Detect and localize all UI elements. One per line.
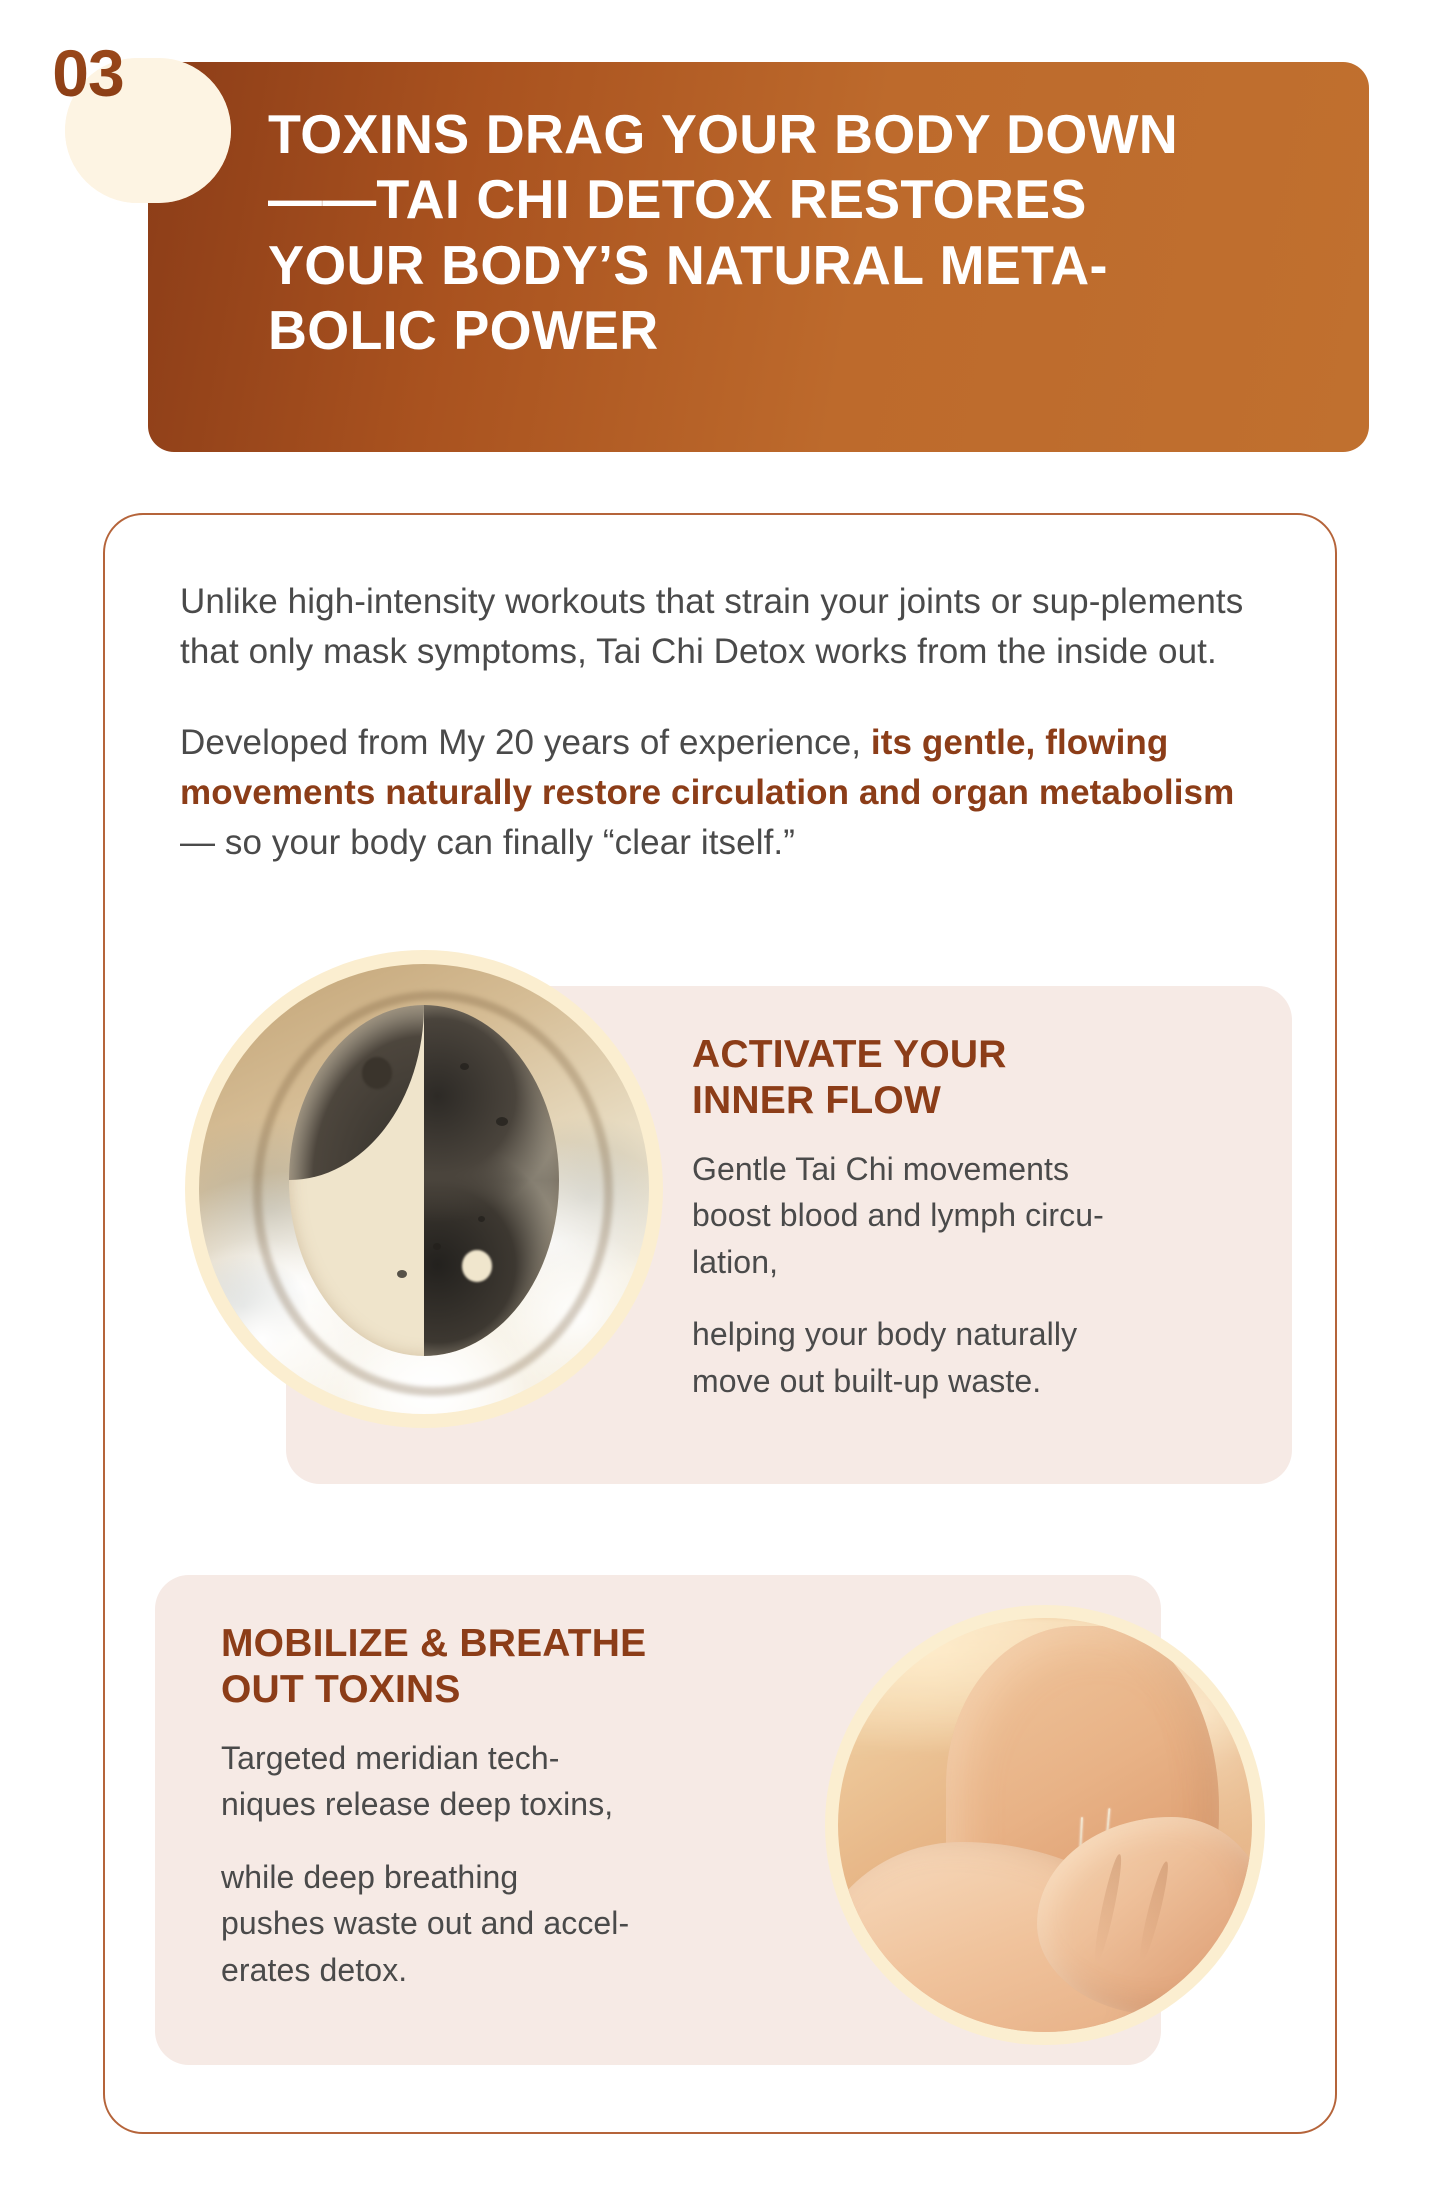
feature-card-mobilize-breathe-out-toxins: MOBILIZE & BREATHE OUT TOXINS Targeted m…: [155, 1575, 1161, 2065]
feature-2-text-block: MOBILIZE & BREATHE OUT TOXINS Targeted m…: [221, 1621, 691, 1993]
feature-1-text-block: ACTIVATE YOUR INNER FLOW Gentle Tai Chi …: [692, 1032, 1182, 1404]
feature-card-activate-inner-flow: ACTIVATE YOUR INNER FLOW Gentle Tai Chi …: [286, 986, 1292, 1484]
content-panel: Unlike high-intensity workouts that stra…: [103, 513, 1337, 2134]
yin-yang-disc: [289, 1005, 559, 1356]
intro-paragraph-1: Unlike high-intensity workouts that stra…: [180, 577, 1270, 676]
ink-speck: [397, 1270, 407, 1278]
feature-1-title: ACTIVATE YOUR INNER FLOW: [692, 1032, 1182, 1124]
intro-paragraph-1-text: Unlike high-intensity workouts that stra…: [180, 582, 1243, 671]
feature-2-title: MOBILIZE & BREATHE OUT TOXINS: [221, 1621, 691, 1713]
yin-yang-dark-dot: [362, 1057, 392, 1089]
intro-paragraph-2-tail: — so your body can finally “clear itself…: [180, 823, 795, 862]
yin-yang-light-dot: [462, 1250, 492, 1282]
feature-1-body-line-1: Gentle Tai Chi movements boost blood and…: [692, 1146, 1182, 1285]
ink-speck: [496, 1117, 508, 1126]
section-header-banner: TOXINS DRAG YOUR BODY DOWN ——TAI CHI DET…: [148, 62, 1369, 452]
feature-2-body-line-2: while deep breathing pushes waste out an…: [221, 1854, 691, 1993]
page-title: TOXINS DRAG YOUR BODY DOWN ——TAI CHI DET…: [268, 102, 1296, 364]
intro-paragraph-2: Developed from My 20 years of experience…: [180, 718, 1270, 867]
intro-text-block: Unlike high-intensity workouts that stra…: [180, 577, 1270, 867]
feature-1-body-line-2: helping your body naturally move out bui…: [692, 1311, 1182, 1404]
feature-2-body-line-1: Targeted meridian tech- niques release d…: [221, 1735, 691, 1828]
ink-speck: [478, 1216, 485, 1222]
ink-speck: [433, 1243, 441, 1250]
yin-yang-dark-half: [424, 1005, 559, 1356]
step-number-label: 03: [0, 0, 166, 145]
acupuncture-photo: [838, 1618, 1252, 2032]
yin-yang-icon: [199, 964, 649, 1414]
intro-paragraph-2-lead: Developed from My 20 years of experience…: [180, 723, 871, 762]
acupuncture-needles-back-image: [825, 1605, 1265, 2045]
ink-speck: [460, 1063, 469, 1070]
yin-yang-ink-painting-image: [185, 950, 663, 1428]
